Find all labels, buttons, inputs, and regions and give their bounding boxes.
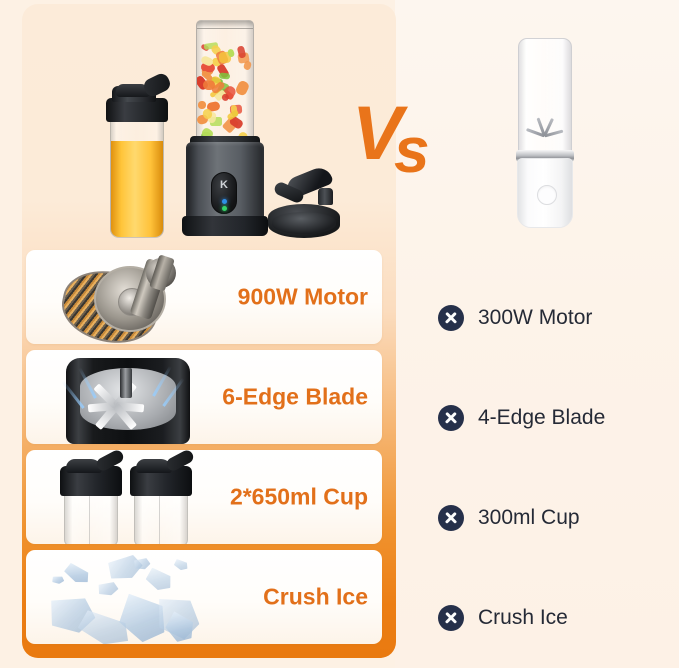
orange-juice-cup-photo [104,76,170,242]
right-feature-label: 300W Motor [478,306,592,330]
cup-left [58,458,124,544]
right-feature-label: 4-Edge Blade [478,406,605,430]
led-green-icon [222,206,227,211]
right-feature-blade: 4-Edge Blade [438,368,674,468]
feature-label: 900W Motor [238,284,368,311]
white-base [517,158,573,228]
crushed-ice-photo [36,550,216,644]
right-feature-label: 300ml Cup [478,506,580,530]
ice-shard [144,567,175,593]
blender-foot [182,216,268,236]
right-feature-cup: 300ml Cup [438,468,674,568]
comparison-infographic: KOIOS K V s [0,0,679,668]
white-blade-icon [528,112,562,138]
cup-body [110,106,164,238]
ice-shard [62,562,92,587]
k-logo: K [212,179,236,191]
feature-label: Crush Ice [263,584,368,611]
lid-ring [272,212,336,234]
right-feature-motor: 300W Motor [438,268,674,368]
jar-rim [197,21,253,29]
right-feature-list: 300W Motor 4-Edge Blade 300ml Cup Crush … [438,268,674,668]
white-portable-blender-photo [512,38,578,228]
cup-right [128,458,194,544]
koios-blender-photo: KOIOS K [180,20,270,242]
feature-card-cups: 2*650ml Cup [26,450,382,544]
right-feature-label: Crush Ice [478,606,568,630]
fruit-pieces [197,43,254,148]
power-button[interactable]: K [211,172,237,214]
cup-body [64,492,118,544]
x-circle-icon [438,405,464,431]
blender-jar [196,20,254,148]
cup-body [134,492,188,544]
x-circle-icon [438,605,464,631]
left-product-photo: KOIOS K [22,4,396,248]
motor-photo [36,250,216,344]
feature-card-motor: 900W Motor [26,250,382,344]
travel-lid-photo [268,170,340,238]
vs-letter-s: s [394,118,430,182]
blade-assembly-photo [36,350,216,444]
ice-shard [96,579,119,598]
x-circle-icon [438,305,464,331]
feature-card-ice: Crush Ice [26,550,382,644]
right-feature-ice: Crush Ice [438,568,674,668]
two-cups-photo [36,450,216,544]
ice-shard [173,559,189,572]
lid-nub [318,188,333,205]
blade-shaft [120,368,132,398]
feature-label: 2*650ml Cup [230,484,368,511]
x-circle-icon [438,505,464,531]
white-jar [518,38,572,156]
left-feature-cards: 900W Motor 6-Edge Blade [26,250,382,644]
white-power-button[interactable] [537,185,557,205]
feature-card-blade: 6-Edge Blade [26,350,382,444]
ice-shard [52,575,65,585]
juice-fill [111,141,163,237]
feature-label: 6-Edge Blade [222,384,368,411]
led-blue-icon [222,199,227,204]
vs-badge: V s [352,96,456,182]
